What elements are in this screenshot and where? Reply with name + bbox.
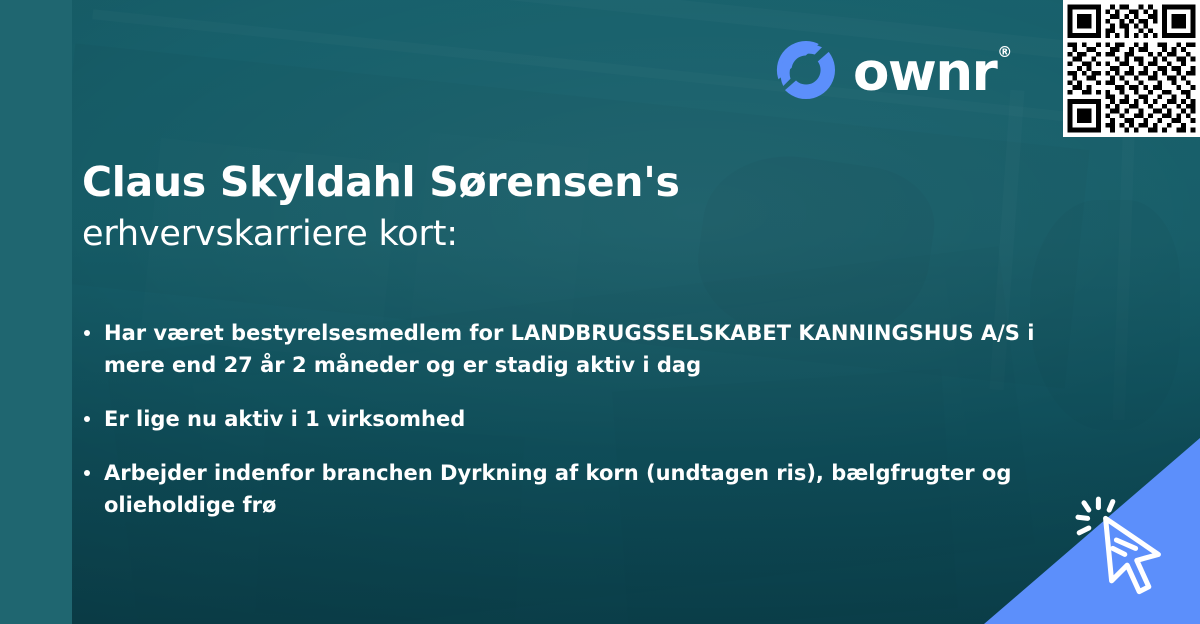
background-photo	[0, 0, 1200, 624]
list-item: Arbejder indenfor branchen Dyrkning af k…	[82, 458, 1102, 522]
left-color-band	[0, 0, 72, 624]
page-title: Claus Skyldahl Sørensen's	[82, 158, 680, 206]
business-career-card: ownr®	[0, 0, 1200, 624]
bullet-dot-icon	[84, 470, 90, 476]
wordmark-text: ownr	[853, 42, 996, 103]
bullet-dot-icon	[84, 416, 90, 422]
click-cursor-icon	[1072, 492, 1192, 612]
list-item-text: Er lige nu aktiv i 1 virksomhed	[104, 404, 1102, 436]
list-item-text: Har været bestyrelsesmedlem for LANDBRUG…	[104, 318, 1102, 382]
list-item-text: Arbejder indenfor branchen Dyrkning af k…	[104, 458, 1102, 522]
page-subtitle: erhvervskarriere kort:	[82, 214, 458, 254]
career-facts-list: Har været bestyrelsesmedlem for LANDBRUG…	[82, 318, 1102, 522]
vignette	[0, 0, 1200, 624]
brand-logo: ownr®	[775, 34, 1010, 106]
qr-code-image	[1063, 0, 1200, 137]
ownr-logo-mark-icon	[775, 39, 837, 101]
list-item: Er lige nu aktiv i 1 virksomhed	[82, 404, 1102, 436]
bullet-dot-icon	[84, 330, 90, 336]
qr-code[interactable]	[1063, 0, 1200, 137]
list-item: Har været bestyrelsesmedlem for LANDBRUG…	[82, 318, 1102, 382]
brand-wordmark: ownr®	[853, 46, 1010, 99]
registered-trademark-symbol: ®	[997, 43, 1011, 61]
